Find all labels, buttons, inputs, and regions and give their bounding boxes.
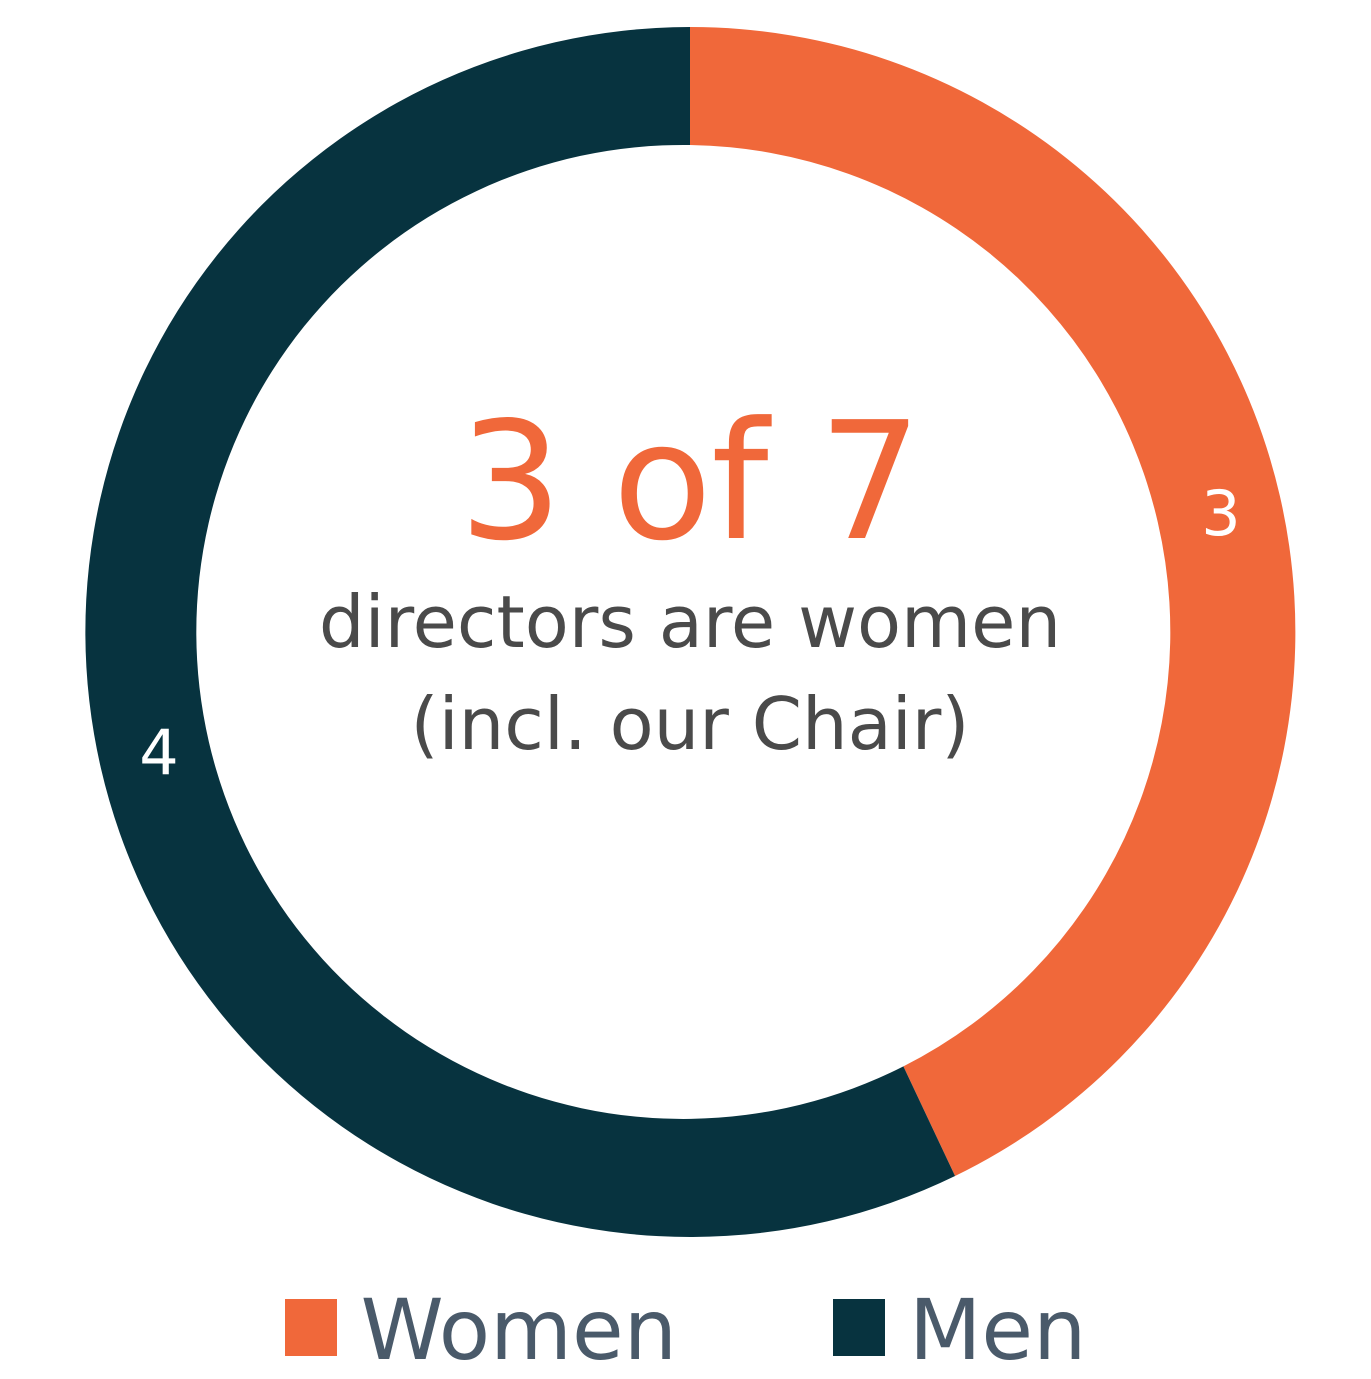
slice-label-women: 3 bbox=[1201, 477, 1240, 550]
legend-label-men: Men bbox=[909, 1288, 1086, 1372]
legend-swatch-men-icon bbox=[833, 1299, 885, 1356]
legend-item-men[interactable]: Men bbox=[833, 1288, 1086, 1372]
donut-chart: 3 4 3 of 7 directors are women (incl. ou… bbox=[0, 0, 1371, 1280]
legend-item-women[interactable]: Women bbox=[285, 1288, 677, 1372]
donut-slice-men[interactable] bbox=[85, 27, 955, 1237]
legend-label-women: Women bbox=[361, 1288, 677, 1372]
board-gender-diversity-infographic: 3 4 3 of 7 directors are women (incl. ou… bbox=[0, 0, 1371, 1371]
legend-swatch-women-icon bbox=[285, 1299, 337, 1356]
donut-slice-women[interactable] bbox=[690, 27, 1295, 1176]
chart-legend: Women Men bbox=[0, 1288, 1371, 1371]
donut-chart-svg: 3 4 bbox=[0, 0, 1371, 1280]
slice-label-men: 4 bbox=[139, 716, 178, 789]
